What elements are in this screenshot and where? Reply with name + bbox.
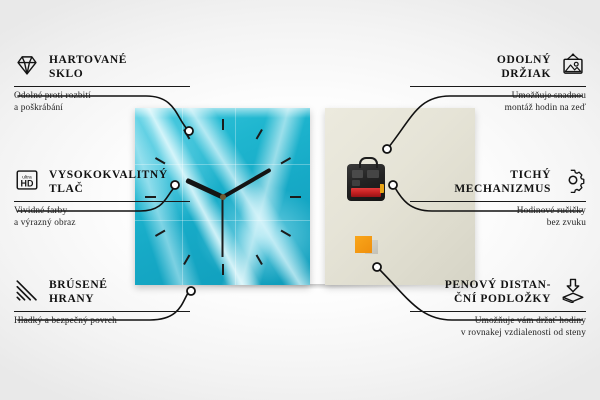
- feature-polished-edges[interactable]: BRÚSENÉ HRANY Hladký a bezpečný povrch: [14, 277, 190, 328]
- feature-high-quality-print[interactable]: ultra HD VYSOKOKVALITNÝ TLAČ Vividné far…: [14, 167, 190, 229]
- feature-header: BRÚSENÉ HRANY: [14, 277, 190, 306]
- feature-title: HARTOVANÉ SKLO: [49, 52, 190, 81]
- feature-description: Hodinové ručičky bez zvuku: [410, 206, 586, 229]
- feature-tempered-glass[interactable]: HARTOVANÉ SKLO Odolné proti rozbití a po…: [14, 52, 190, 114]
- feature-header: ultra HD VYSOKOKVALITNÝ TLAČ: [14, 167, 190, 196]
- connector-node: [383, 145, 391, 153]
- divider: [410, 311, 586, 312]
- ultra-hd-icon: ultra HD: [14, 167, 40, 193]
- feature-title: TICHÝ MECHANIZMUS: [410, 167, 551, 196]
- feature-header: PENOVÝ DISTAN- ČNÍ PODLOŽKY: [410, 277, 586, 306]
- svg-text:HD: HD: [21, 179, 34, 189]
- picture-frame-icon: [560, 52, 586, 78]
- feature-header: ODOLNÝ DRŽIAK: [410, 52, 586, 81]
- press-pad-icon: [560, 277, 586, 303]
- feature-foam-spacers[interactable]: PENOVÝ DISTAN- ČNÍ PODLOŽKY Umožňuje vám…: [410, 277, 586, 339]
- feature-silent-mechanism[interactable]: TICHÝ MECHANIZMUS Hodinové ručičky bez z…: [410, 167, 586, 229]
- feature-durable-hanger[interactable]: ODOLNÝ DRŽIAK Umožňuje snadnou montáž ho…: [410, 52, 586, 114]
- feature-title: ODOLNÝ DRŽIAK: [410, 52, 551, 81]
- feature-description: Vividné farby a výrazný obraz: [14, 206, 190, 229]
- feature-description: Umožňuje snadnou montáž hodin na zeď: [410, 91, 586, 114]
- feature-title: PENOVÝ DISTAN- ČNÍ PODLOŽKY: [410, 277, 551, 306]
- feature-description: Hladký a bezpečný povrch: [14, 316, 190, 328]
- divider: [410, 201, 586, 202]
- gear-icon: [560, 167, 586, 193]
- connector-node: [389, 181, 397, 189]
- connector-node: [373, 263, 381, 271]
- feature-description: Umožňuje vám držať hodiny v rovnakej vzd…: [410, 316, 586, 339]
- divider: [14, 201, 190, 202]
- divider: [410, 86, 586, 87]
- feature-title: BRÚSENÉ HRANY: [49, 277, 190, 306]
- feature-header: HARTOVANÉ SKLO: [14, 52, 190, 81]
- brushed-edges-icon: [14, 277, 40, 303]
- infographic-canvas: HARTOVANÉ SKLO Odolné proti rozbití a po…: [0, 0, 600, 400]
- connector-node: [185, 127, 193, 135]
- diamond-icon: [14, 52, 40, 78]
- feature-title: VYSOKOKVALITNÝ TLAČ: [49, 167, 190, 196]
- feature-header: TICHÝ MECHANIZMUS: [410, 167, 586, 196]
- divider: [14, 311, 190, 312]
- feature-description: Odolné proti rozbití a poškrábání: [14, 91, 190, 114]
- divider: [14, 86, 190, 87]
